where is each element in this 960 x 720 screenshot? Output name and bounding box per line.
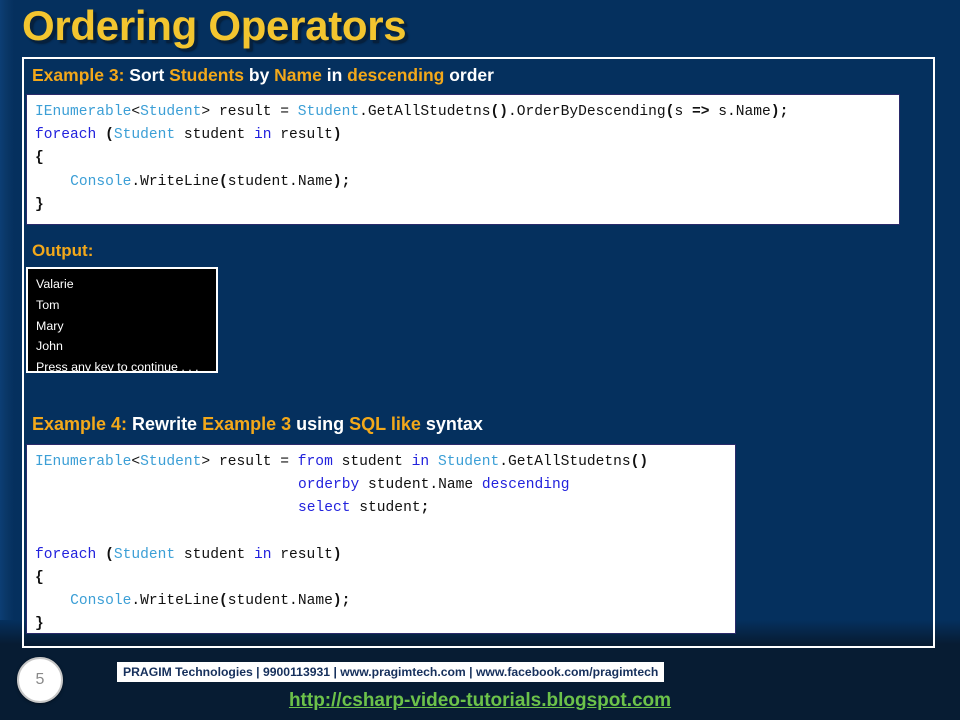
example4-code-line: } [35,613,735,634]
console-output-line: Mary [36,316,216,337]
example4-heading: Example 4: Rewrite Example 3 using SQL l… [32,414,483,435]
example4-code-line: foreach (Student student in result) [35,544,735,567]
example4-code-line: select student; [35,497,735,520]
slide-background-left-edge [0,0,14,720]
example4-code-block: IEnumerable<Student> result = from stude… [26,444,736,634]
blog-url-link[interactable]: http://csharp-video-tutorials.blogspot.c… [0,690,960,712]
console-output-line: Press any key to continue . . . [36,357,216,373]
example4-heading-part-1: Rewrite [127,414,202,434]
example3-heading-part-1: Sort [124,65,169,85]
example4-code-line: orderby student.Name descending [35,474,735,497]
example3-code-line: Console.WriteLine(student.Name); [35,171,899,194]
example4-heading-part-2: Example 3 [202,414,291,434]
example4-heading-part-4: SQL like [349,414,421,434]
example3-heading: Example 3: Sort Students by Name in desc… [32,65,494,86]
example4-heading-part-3: using [291,414,349,434]
example4-heading-part-0: Example 4: [32,414,127,434]
example3-heading-part-0: Example 3: [32,65,124,85]
example3-code-line: } [35,194,899,217]
example3-heading-part-5: in [322,65,347,85]
console-output: ValarieTomMaryJohnPress any key to conti… [26,267,218,373]
example3-code-block: IEnumerable<Student> result = Student.Ge… [26,94,900,225]
example4-code-line: IEnumerable<Student> result = from stude… [35,451,735,474]
console-output-line: John [36,336,216,357]
example3-code-line: { [35,147,899,170]
example3-heading-part-6: descending [347,65,444,85]
example3-heading-part-4: Name [274,65,322,85]
example4-code-line: Console.WriteLine(student.Name); [35,590,735,613]
example3-heading-part-2: Students [169,65,244,85]
example3-code-line: IEnumerable<Student> result = Student.Ge… [35,101,899,124]
footer-credits: PRAGIM Technologies | 9900113931 | www.p… [117,662,664,682]
example4-code-line [35,521,735,544]
output-label: Output: [32,241,93,261]
example3-heading-part-7: order [444,65,494,85]
console-output-line: Tom [36,295,216,316]
console-output-line: Valarie [36,274,216,295]
example3-heading-part-3: by [244,65,274,85]
slide: Ordering Operators Example 3: Sort Stude… [0,0,960,720]
page-title: Ordering Operators [22,2,406,50]
example4-code-line: { [35,567,735,590]
example4-heading-part-5: syntax [421,414,483,434]
example3-code-line: foreach (Student student in result) [35,124,899,147]
